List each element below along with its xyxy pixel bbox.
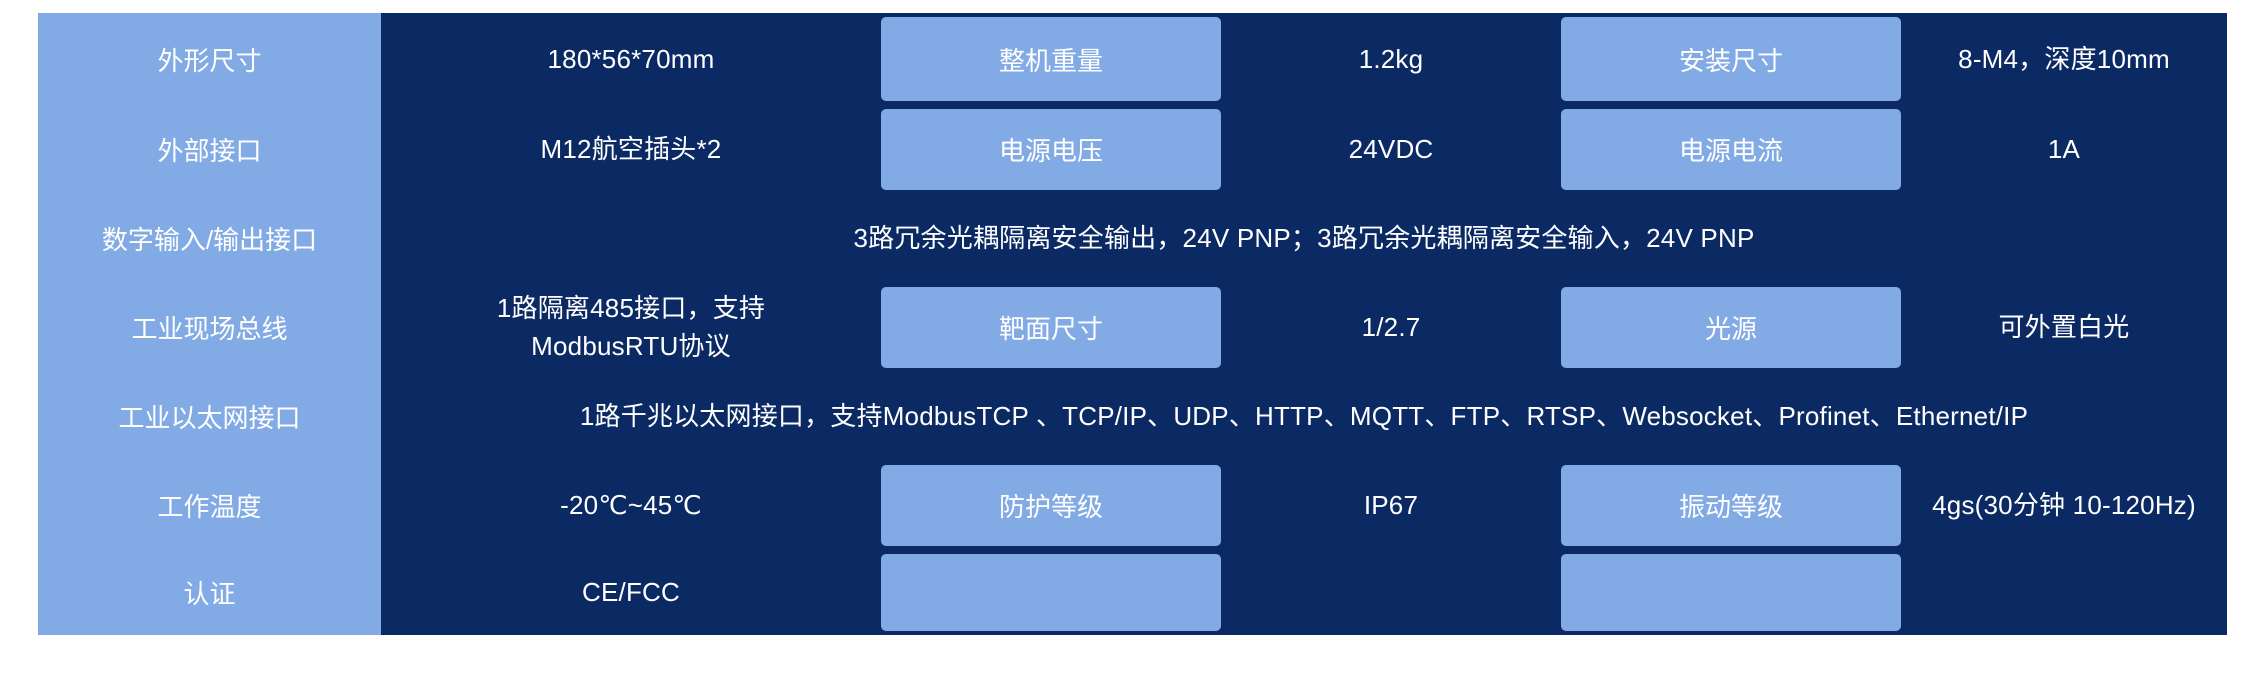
row-key-weight: 整机重量: [881, 13, 1221, 105]
row-value-empty-a: [1221, 550, 1561, 635]
row-key-vibration-level: 振动等级: [1561, 461, 1901, 550]
table-row: 外部接口 M12航空插头*2 电源电压 24VDC 电源电流 1A: [38, 105, 2227, 194]
row-label-fieldbus: 工业现场总线: [38, 283, 381, 372]
row-label-dimensions: 外形尺寸: [38, 13, 381, 105]
row-key-weight-label: 整机重量: [881, 17, 1221, 101]
row-value-supply-current: 1A: [1901, 105, 2227, 194]
row-value-digital-io: 3路冗余光耦隔离安全输出，24V PNP；3路冗余光耦隔离安全输入，24V PN…: [381, 194, 2227, 283]
row-key-mounting-label: 安装尺寸: [1561, 17, 1901, 101]
row-key-empty-a-label: [881, 554, 1221, 631]
row-key-sensor-size-label: 靶面尺寸: [881, 287, 1221, 368]
row-key-empty-b: [1561, 550, 1901, 635]
table-row: 外形尺寸 180*56*70mm 整机重量 1.2kg 安装尺寸 8-M4，深度…: [38, 13, 2227, 105]
row-value-fieldbus: 1路隔离485接口，支持 ModbusRTU协议: [381, 283, 881, 372]
row-key-ingress-protection-label: 防护等级: [881, 465, 1221, 546]
row-key-supply-current: 电源电流: [1561, 105, 1901, 194]
row-value-weight: 1.2kg: [1221, 13, 1561, 105]
row-key-empty-b-label: [1561, 554, 1901, 631]
row-value-external-interface: M12航空插头*2: [381, 105, 881, 194]
row-value-sensor-size: 1/2.7: [1221, 283, 1561, 372]
row-key-vibration-level-label: 振动等级: [1561, 465, 1901, 546]
table-row: 工作温度 -20℃~45℃ 防护等级 IP67 振动等级 4gs(30分钟 10…: [38, 461, 2227, 550]
row-value-mounting: 8-M4，深度10mm: [1901, 13, 2227, 105]
row-value-dimensions: 180*56*70mm: [381, 13, 881, 105]
row-label-ethernet: 工业以太网接口: [38, 372, 381, 461]
specification-table: 外形尺寸 180*56*70mm 整机重量 1.2kg 安装尺寸 8-M4，深度…: [38, 13, 2227, 675]
row-key-sensor-size: 靶面尺寸: [881, 283, 1221, 372]
row-value-light-source: 可外置白光: [1901, 283, 2227, 372]
row-label-certification: 认证: [38, 550, 381, 635]
row-key-ingress-protection: 防护等级: [881, 461, 1221, 550]
row-value-operating-temperature: -20℃~45℃: [381, 461, 881, 550]
row-key-supply-current-label: 电源电流: [1561, 109, 1901, 190]
table-row: 工业现场总线 1路隔离485接口，支持 ModbusRTU协议 靶面尺寸 1/2…: [38, 283, 2227, 372]
row-key-supply-voltage: 电源电压: [881, 105, 1221, 194]
row-value-supply-voltage: 24VDC: [1221, 105, 1561, 194]
row-key-empty-a: [881, 550, 1221, 635]
row-label-operating-temperature: 工作温度: [38, 461, 381, 550]
row-label-external-interface: 外部接口: [38, 105, 381, 194]
table-row: 数字输入/输出接口 3路冗余光耦隔离安全输出，24V PNP；3路冗余光耦隔离安…: [38, 194, 2227, 283]
row-value-ethernet: 1路千兆以太网接口，支持ModbusTCP 、TCP/IP、UDP、HTTP、M…: [381, 372, 2227, 461]
table-row: 工业以太网接口 1路千兆以太网接口，支持ModbusTCP 、TCP/IP、UD…: [38, 372, 2227, 461]
row-key-light-source-label: 光源: [1561, 287, 1901, 368]
row-value-ingress-protection: IP67: [1221, 461, 1561, 550]
row-key-supply-voltage-label: 电源电压: [881, 109, 1221, 190]
table-row: 认证 CE/FCC: [38, 550, 2227, 635]
row-key-light-source: 光源: [1561, 283, 1901, 372]
row-key-mounting: 安装尺寸: [1561, 13, 1901, 105]
row-value-empty-b: [1901, 550, 2227, 635]
row-label-digital-io: 数字输入/输出接口: [38, 194, 381, 283]
row-value-certification: CE/FCC: [381, 550, 881, 635]
row-value-vibration-level: 4gs(30分钟 10-120Hz): [1901, 461, 2227, 550]
